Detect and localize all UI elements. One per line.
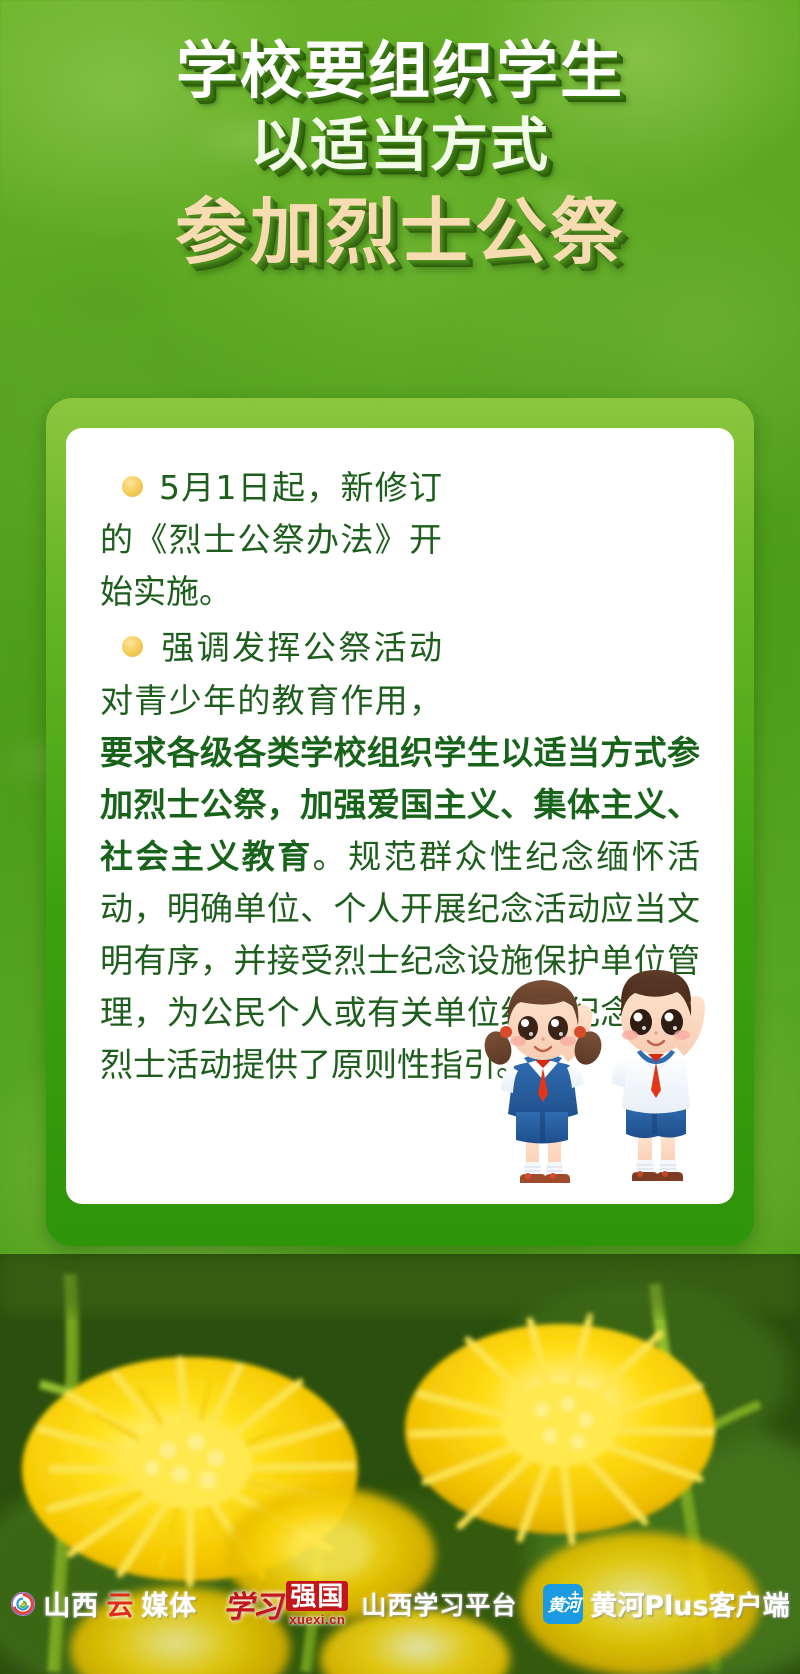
spiral-circle-icon bbox=[10, 1591, 36, 1617]
logo3-icon-badge: + bbox=[571, 1586, 579, 1602]
headline-line-2: 以适当方式 bbox=[0, 116, 800, 174]
logo1-part1: 山西 bbox=[43, 1584, 99, 1623]
huanghe-square-icon: 黄河 + bbox=[543, 1584, 583, 1624]
logo2-subtitle: 山西学习平台 bbox=[361, 1586, 517, 1622]
logo-xuexi-qiangguo[interactable]: 学习 强国 xuexi.cn 山西学习平台 bbox=[223, 1581, 517, 1626]
bullet-dot-icon bbox=[122, 636, 143, 657]
bullet-dot-icon bbox=[122, 476, 143, 497]
poster-root: 学校要组织学生 以适当方式 参加烈士公祭 bbox=[0, 0, 800, 1674]
content-card: 5月1日起，新修订的《烈士公祭办法》开始实施。 强调发挥公祭活动对青少年的教育作… bbox=[46, 398, 754, 1246]
logo3-label: 黄河Plus客户端 bbox=[590, 1584, 789, 1623]
students-saluting-illustration bbox=[462, 940, 724, 1198]
logo2-calligraphy: 学习 bbox=[223, 1582, 281, 1626]
logo-huanghe-plus[interactable]: 黄河 + 黄河Plus客户端 bbox=[543, 1584, 789, 1624]
logo2-box: 强国 xuexi.cn bbox=[286, 1581, 348, 1626]
bullet-2-lead: 强调发挥公祭活动对青少年的教育作用， bbox=[100, 628, 442, 719]
headline-block: 学校要组织学生 以适当方式 参加烈士公祭 bbox=[0, 40, 800, 268]
headline-line-3: 参加烈士公祭 bbox=[0, 196, 800, 268]
footer-logo-bar: 山西 云 媒体 学习 强国 xuexi.cn 山西学习平台 黄河 + 黄河Plu… bbox=[0, 1581, 800, 1626]
logo-shanxi-yun-media[interactable]: 山西 云 媒体 bbox=[10, 1584, 197, 1623]
headline-line-1: 学校要组织学生 bbox=[0, 40, 800, 102]
logo2-url: xuexi.cn bbox=[289, 1613, 345, 1626]
logo1-part2: 媒体 bbox=[141, 1584, 197, 1623]
content-card-panel: 5月1日起，新修订的《烈士公祭办法》开始实施。 强调发挥公祭活动对青少年的教育作… bbox=[66, 428, 734, 1204]
logo2-boxed-text: 强国 bbox=[286, 1581, 348, 1611]
logo1-accent: 云 bbox=[106, 1584, 134, 1623]
bullet-1-text: 5月1日起，新修订的《烈士公祭办法》开始实施。 bbox=[100, 468, 442, 611]
